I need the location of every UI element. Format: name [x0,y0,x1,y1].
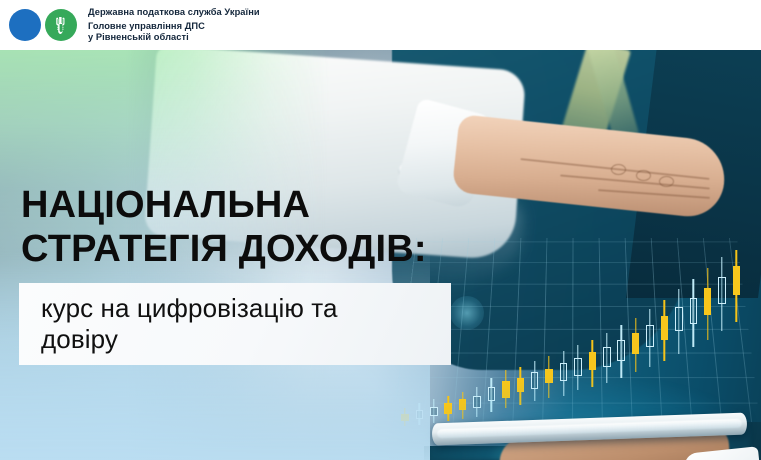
org-line-2: Головне управління ДПС [88,21,260,32]
banner-page: Державна податкова служба України Головн… [0,0,761,460]
headline-line-2: СТРАТЕГІЯ ДОХОДІВ: [21,227,427,271]
headline-line-1: НАЦІОНАЛЬНА [21,183,427,227]
knuckle-3 [659,176,674,187]
organisation-logo[interactable] [9,9,77,41]
candlestick-body [661,316,668,339]
site-header: Державна податкова служба України Головн… [0,0,761,50]
candlestick-body [675,307,682,330]
knuckle-1 [611,164,626,175]
knuckle-2 [636,170,651,181]
candlestick-body [646,325,653,347]
subtitle-box: курс на цифровізацію та довіру [19,283,451,365]
candlestick-body [704,288,711,315]
chart-glow-marker [450,296,484,330]
green-circle-trident-icon [45,9,77,41]
blue-circle-icon [9,9,41,41]
org-line-3: у Рівненській області [88,32,260,43]
subtitle-line-1: курс на цифровізацію та [41,293,451,324]
candlestick-body [690,298,697,323]
page-title: НАЦІОНАЛЬНА СТРАТЕГІЯ ДОХОДІВ: [21,183,427,272]
organisation-name: Державна податкова служба України Головн… [88,7,260,42]
banner-hero-image: НАЦІОНАЛЬНА СТРАТЕГІЯ ДОХОДІВ: курс на ц… [0,50,761,460]
org-line-1: Державна податкова служба України [88,7,260,18]
candlestick-body [718,277,725,304]
subtitle: курс на цифровізацію та довіру [41,293,451,355]
subtitle-line-2: довіру [41,324,451,355]
candlestick-body [733,266,740,295]
